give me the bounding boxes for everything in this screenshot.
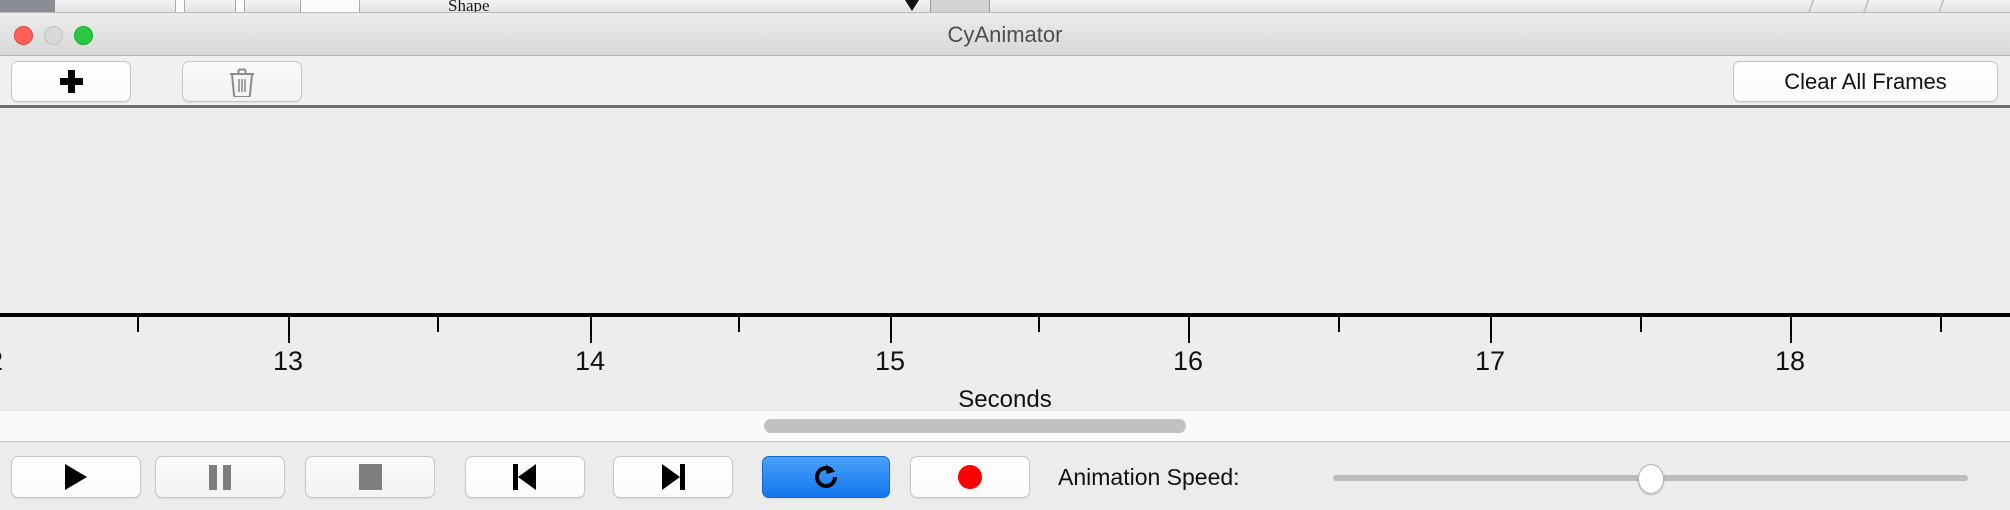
axis-tick-major	[1188, 317, 1190, 343]
record-button[interactable]	[910, 456, 1030, 498]
axis-tick-label: 17	[1475, 346, 1505, 377]
timeline-scrollbar[interactable]	[0, 410, 2010, 442]
axis-tick-label: 14	[575, 346, 605, 377]
axis-tick-label: 12	[0, 346, 3, 377]
axis-tick-major	[890, 317, 892, 343]
background-tab-header	[0, 0, 55, 13]
axis-tick-minor	[437, 317, 439, 332]
page-title: CyAnimator	[0, 13, 2010, 56]
background-segment	[300, 0, 360, 13]
background-divider	[1938, 0, 1955, 13]
delete-frame-button[interactable]	[182, 61, 302, 102]
animation-speed-label: Animation Speed:	[1058, 456, 1240, 498]
scrollbar-thumb[interactable]	[764, 419, 1186, 433]
background-divider	[1863, 0, 1880, 13]
stop-icon	[359, 464, 382, 490]
axis-tick-minor	[1038, 317, 1040, 332]
pause-icon	[209, 465, 231, 490]
pause-button[interactable]	[155, 456, 285, 498]
skip-to-start-button[interactable]	[465, 456, 585, 498]
axis-tick-major	[1490, 317, 1492, 343]
loop-icon	[811, 462, 841, 492]
axis-tick-label: 13	[273, 346, 303, 377]
background-segment	[930, 0, 990, 13]
stop-button[interactable]	[305, 456, 435, 498]
background-window-strip: Shape	[0, 0, 2010, 13]
loop-button[interactable]	[762, 456, 890, 498]
skip-to-end-button[interactable]	[613, 456, 733, 498]
record-icon	[958, 465, 982, 489]
timeline-frames-panel[interactable]: MCM1swi5 ste12 mcm1 ndt80sff mcm1 fkh2mc…	[0, 111, 2010, 314]
axis-tick-label: 15	[875, 346, 905, 377]
play-icon	[65, 464, 87, 490]
axis-line	[0, 313, 2010, 317]
play-button[interactable]	[11, 456, 141, 498]
clear-all-frames-button[interactable]: Clear All Frames	[1733, 61, 1998, 102]
background-cursor-arrow	[905, 0, 919, 11]
background-segment	[235, 0, 245, 13]
axis-tick-minor	[1640, 317, 1642, 332]
axis-tick-major	[1790, 317, 1792, 343]
background-shape-label: Shape	[448, 0, 490, 13]
playback-control-bar: Animation Speed:	[0, 443, 2010, 510]
skip-back-icon	[513, 464, 537, 490]
add-frame-button[interactable]	[11, 61, 131, 102]
toolbar: Clear All Frames	[0, 56, 2010, 108]
slider-thumb[interactable]	[1638, 464, 1664, 494]
axis-tick-minor	[137, 317, 139, 332]
trash-icon	[229, 67, 255, 97]
skip-forward-icon	[661, 464, 685, 490]
animation-speed-slider[interactable]	[1333, 456, 1968, 498]
background-divider	[1808, 0, 1825, 13]
axis-tick-major	[288, 317, 290, 343]
axis-tick-label: 18	[1775, 346, 1805, 377]
title-bar: CyAnimator	[0, 13, 2010, 56]
plus-icon	[60, 70, 83, 93]
background-segment	[175, 0, 185, 13]
axis-tick-minor	[738, 317, 740, 332]
axis-tick-minor	[1940, 317, 1942, 332]
axis-tick-major	[590, 317, 592, 343]
axis-tick-minor	[1338, 317, 1340, 332]
axis-tick-label: 16	[1173, 346, 1203, 377]
time-axis: Seconds 12131415161718	[0, 313, 2010, 410]
